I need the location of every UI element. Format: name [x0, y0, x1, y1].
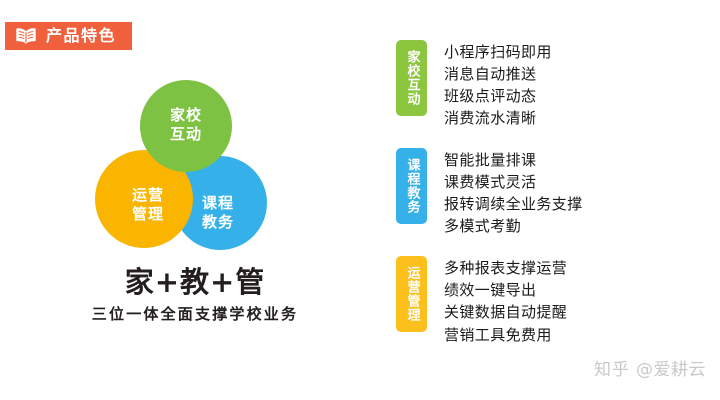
headline-sub: 三位一体全面支撑学校业务: [60, 305, 330, 323]
watermark-handle: @爱耕云: [636, 355, 706, 380]
headline-main: 家+教+管: [60, 266, 330, 298]
feature-group-tab: 家校互动: [396, 40, 427, 116]
feature-item: 小程序扫码即用: [444, 41, 552, 63]
venn-diagram: 家校 互动 运营 管理 课程 教务: [95, 80, 275, 255]
feature-group-tab: 运营管理: [396, 256, 427, 332]
feature-item: 智能批量排课: [444, 149, 583, 171]
feature-group-courses: 课程教务 智能批量排课 课费模式灵活 报转调续全业务支撑 多模式考勤: [396, 148, 696, 237]
feature-item: 报转调续全业务支撑: [444, 193, 583, 215]
feature-groups: 家校互动 小程序扫码即用 消息自动推送 班级点评动态 消费流水清晰 课程教务 智…: [396, 40, 696, 346]
venn-circle-label-line2: 教务: [202, 213, 234, 232]
feature-item: 课费模式灵活: [444, 171, 583, 193]
section-badge: 产品特色: [5, 22, 132, 50]
venn-circle-label-line2: 互动: [170, 125, 202, 144]
watermark-site: 知乎: [594, 355, 630, 380]
feature-item: 消费流水清晰: [444, 107, 552, 129]
feature-item: 绩效一键导出: [444, 279, 567, 301]
headline-block: 家+教+管 三位一体全面支撑学校业务: [60, 266, 330, 323]
open-book-icon: [13, 27, 39, 45]
slide-canvas: 产品特色 家校 互动 运营 管理 课程 教务 家+教+管 三位一体全面支撑学校业…: [0, 0, 720, 400]
feature-item-list: 多种报表支撑运营 绩效一键导出 关键数据自动提醒 营销工具免费用: [444, 256, 567, 345]
feature-item: 消息自动推送: [444, 63, 552, 85]
venn-circle-label-line1: 家校: [170, 106, 202, 125]
feature-item-list: 智能批量排课 课费模式灵活 报转调续全业务支撑 多模式考勤: [444, 148, 583, 237]
feature-item-list: 小程序扫码即用 消息自动推送 班级点评动态 消费流水清晰: [444, 40, 552, 129]
feature-item: 多种报表支撑运营: [444, 257, 567, 279]
feature-group-tab: 课程教务: [396, 148, 427, 224]
venn-circle-label-line2: 管理: [132, 205, 164, 224]
venn-circle-home-school: 家校 互动: [140, 80, 232, 172]
feature-group-home-school: 家校互动 小程序扫码即用 消息自动推送 班级点评动态 消费流水清晰: [396, 40, 696, 129]
feature-group-operations: 运营管理 多种报表支撑运营 绩效一键导出 关键数据自动提醒 营销工具免费用: [396, 256, 696, 345]
section-badge-label: 产品特色: [46, 28, 116, 44]
venn-circle-label-line1: 课程: [202, 194, 234, 213]
watermark: 知乎 @爱耕云: [594, 355, 706, 380]
feature-item: 营销工具免费用: [444, 324, 567, 346]
feature-item: 班级点评动态: [444, 85, 552, 107]
feature-item: 关键数据自动提醒: [444, 301, 567, 323]
feature-item: 多模式考勤: [444, 215, 583, 237]
venn-circle-label-line1: 运营: [132, 186, 164, 205]
